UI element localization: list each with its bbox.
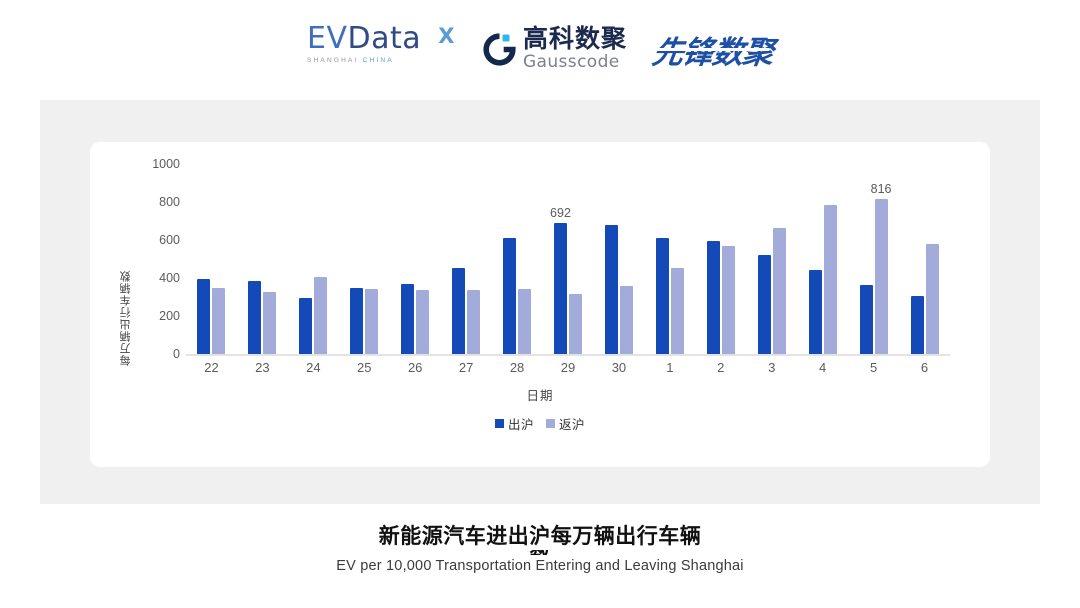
bar-wrapper [416,164,429,354]
evdata-tagline: SHANGHAI CHINA [307,57,457,64]
bar-返沪-27[interactable] [467,290,480,354]
bar-返沪-22[interactable] [212,288,225,354]
evdata-tagline-city: SHANGHAI [307,57,359,64]
bar-group: 816 [848,164,899,354]
bar-返沪-6[interactable] [926,244,939,354]
evdata-tagline-country: CHINA [363,57,394,64]
bar-wrapper [569,164,582,354]
bar-返沪-25[interactable] [365,289,378,354]
x-tick-label: 24 [306,360,320,375]
bar-group: 692 [543,164,594,354]
bar-group [899,164,950,354]
bar-wrapper [722,164,735,354]
logo-gausscode: 高科数聚 Gausscode [483,21,627,77]
x-axis-line [186,354,950,356]
bar-wrapper: 692 [554,164,567,354]
legend-item-返沪[interactable]: 返沪 [546,414,585,433]
logo-bar: EVData X SHANGHAI CHINA 高科数聚 Gausscode 先… [0,0,1080,98]
gausscode-en: Gausscode [523,54,627,71]
bar-wrapper [467,164,480,354]
bar-wrapper [656,164,669,354]
x-tick-label: 6 [921,360,928,375]
bar-wrapper [263,164,276,354]
gausscode-circle-icon [483,33,516,66]
bar-出沪-27[interactable] [452,268,465,354]
page-subtitle: EV per 10,000 Transportation Entering an… [330,558,749,574]
x-axis-ticks: 222324252627282930123456 [186,360,950,380]
bar-返沪-5[interactable] [875,199,888,354]
x-mark-icon: X [438,19,455,53]
bar-wrapper [197,164,210,354]
bar-出沪-23[interactable] [248,281,261,354]
bar-wrapper [758,164,771,354]
x-tick-label: 30 [612,360,626,375]
bar-出沪-30[interactable] [605,225,618,354]
x-tick-label: 23 [255,360,269,375]
plot-area: 692816 [186,164,950,354]
bar-chart: 每万辆出行车辆数 02004006008001000 692816 222324… [90,142,990,467]
bar-wrapper [299,164,312,354]
page-title: 新能源汽车进出沪每万辆出行车辆 [0,524,1080,550]
bar-出沪-25[interactable] [350,288,363,354]
bar-wrapper [671,164,684,354]
bar-group [390,164,441,354]
evdata-wordmark: EVData X [307,22,457,56]
bar-wrapper [452,164,465,354]
legend-item-出沪[interactable]: 出沪 [495,414,534,433]
y-tick-label: 800 [159,195,180,209]
bar-wrapper [707,164,720,354]
bar-wrapper [911,164,924,354]
bar-group [593,164,644,354]
legend-label: 返沪 [559,414,585,433]
bar-出沪-5[interactable] [860,285,873,354]
gausscode-text: 高科数聚 Gausscode [523,27,627,71]
bar-group [695,164,746,354]
x-tick-label: 5 [870,360,877,375]
bar-wrapper [518,164,531,354]
bar-wrapper [248,164,261,354]
footer: 数 新能源汽车进出沪每万辆出行车辆 EV per 10,000 Transpor… [0,524,1080,575]
bar-返沪-30[interactable] [620,286,633,354]
bar-value-label: 816 [871,182,892,196]
chart-legend: 出沪返沪 [90,414,990,433]
y-tick-label: 200 [159,309,180,323]
chart-outer-panel: 每万辆出行车辆数 02004006008001000 692816 222324… [40,100,1040,504]
bar-wrapper [503,164,516,354]
bar-value-label: 692 [550,206,571,220]
bar-出沪-28[interactable] [503,238,516,354]
x-tick-label: 2 [717,360,724,375]
bar-出沪-2[interactable] [707,241,720,354]
x-tick-label: 27 [459,360,473,375]
bar-wrapper [350,164,363,354]
legend-swatch-icon [546,419,555,428]
logo-evdata: EVData X SHANGHAI CHINA [307,22,457,76]
x-tick-label: 29 [561,360,575,375]
bar-group [746,164,797,354]
bar-wrapper [773,164,786,354]
bar-wrapper [824,164,837,354]
evdata-prefix: EV [307,21,347,56]
x-tick-label: 25 [357,360,371,375]
x-tick-label: 26 [408,360,422,375]
chart-card: 每万辆出行车辆数 02004006008001000 692816 222324… [90,142,990,467]
legend-swatch-icon [495,419,504,428]
bar-返沪-4[interactable] [824,205,837,354]
bar-出沪-22[interactable] [197,279,210,354]
y-tick-label: 400 [159,271,180,285]
bar-wrapper [365,164,378,354]
bar-出沪-3[interactable] [758,255,771,354]
bar-出沪-29[interactable] [554,223,567,354]
bar-出沪-24[interactable] [299,298,312,354]
bar-返沪-2[interactable] [722,246,735,354]
bar-group [237,164,288,354]
bar-wrapper [926,164,939,354]
bar-wrapper: 816 [875,164,888,354]
bar-group [441,164,492,354]
x-tick-label: 4 [819,360,826,375]
bar-wrapper [314,164,327,354]
bar-返沪-26[interactable] [416,290,429,354]
bar-group [186,164,237,354]
bar-group [797,164,848,354]
bar-group [288,164,339,354]
bar-wrapper [809,164,822,354]
bar-出沪-1[interactable] [656,238,669,354]
x-tick-label: 1 [666,360,673,375]
x-tick-label: 22 [204,360,218,375]
bar-wrapper [620,164,633,354]
evdata-suffix: Data [347,21,421,56]
bar-wrapper [605,164,618,354]
bar-wrapper [212,164,225,354]
bar-返沪-1[interactable] [671,268,684,354]
bar-出沪-4[interactable] [809,270,822,354]
y-tick-label: 0 [173,347,180,361]
bar-出沪-6[interactable] [911,296,924,354]
bar-出沪-26[interactable] [401,284,414,354]
x-tick-label: 28 [510,360,524,375]
bar-wrapper [401,164,414,354]
bar-返沪-23[interactable] [263,292,276,354]
bar-group [492,164,543,354]
x-tick-label: 3 [768,360,775,375]
y-tick-label: 600 [159,233,180,247]
y-axis-ticks: 02004006008001000 [134,164,180,356]
bar-group [339,164,390,354]
legend-label: 出沪 [508,414,534,433]
bar-返沪-3[interactable] [773,228,786,354]
logo-xianfeng: 先锋数聚 [650,27,776,72]
x-axis-title: 日期 [90,385,990,404]
gausscode-cn: 高科数聚 [523,27,627,52]
bar-group [644,164,695,354]
y-tick-label: 1000 [152,157,180,171]
bar-返沪-24[interactable] [314,277,327,354]
bar-返沪-28[interactable] [518,289,531,354]
bar-返沪-29[interactable] [569,294,582,354]
